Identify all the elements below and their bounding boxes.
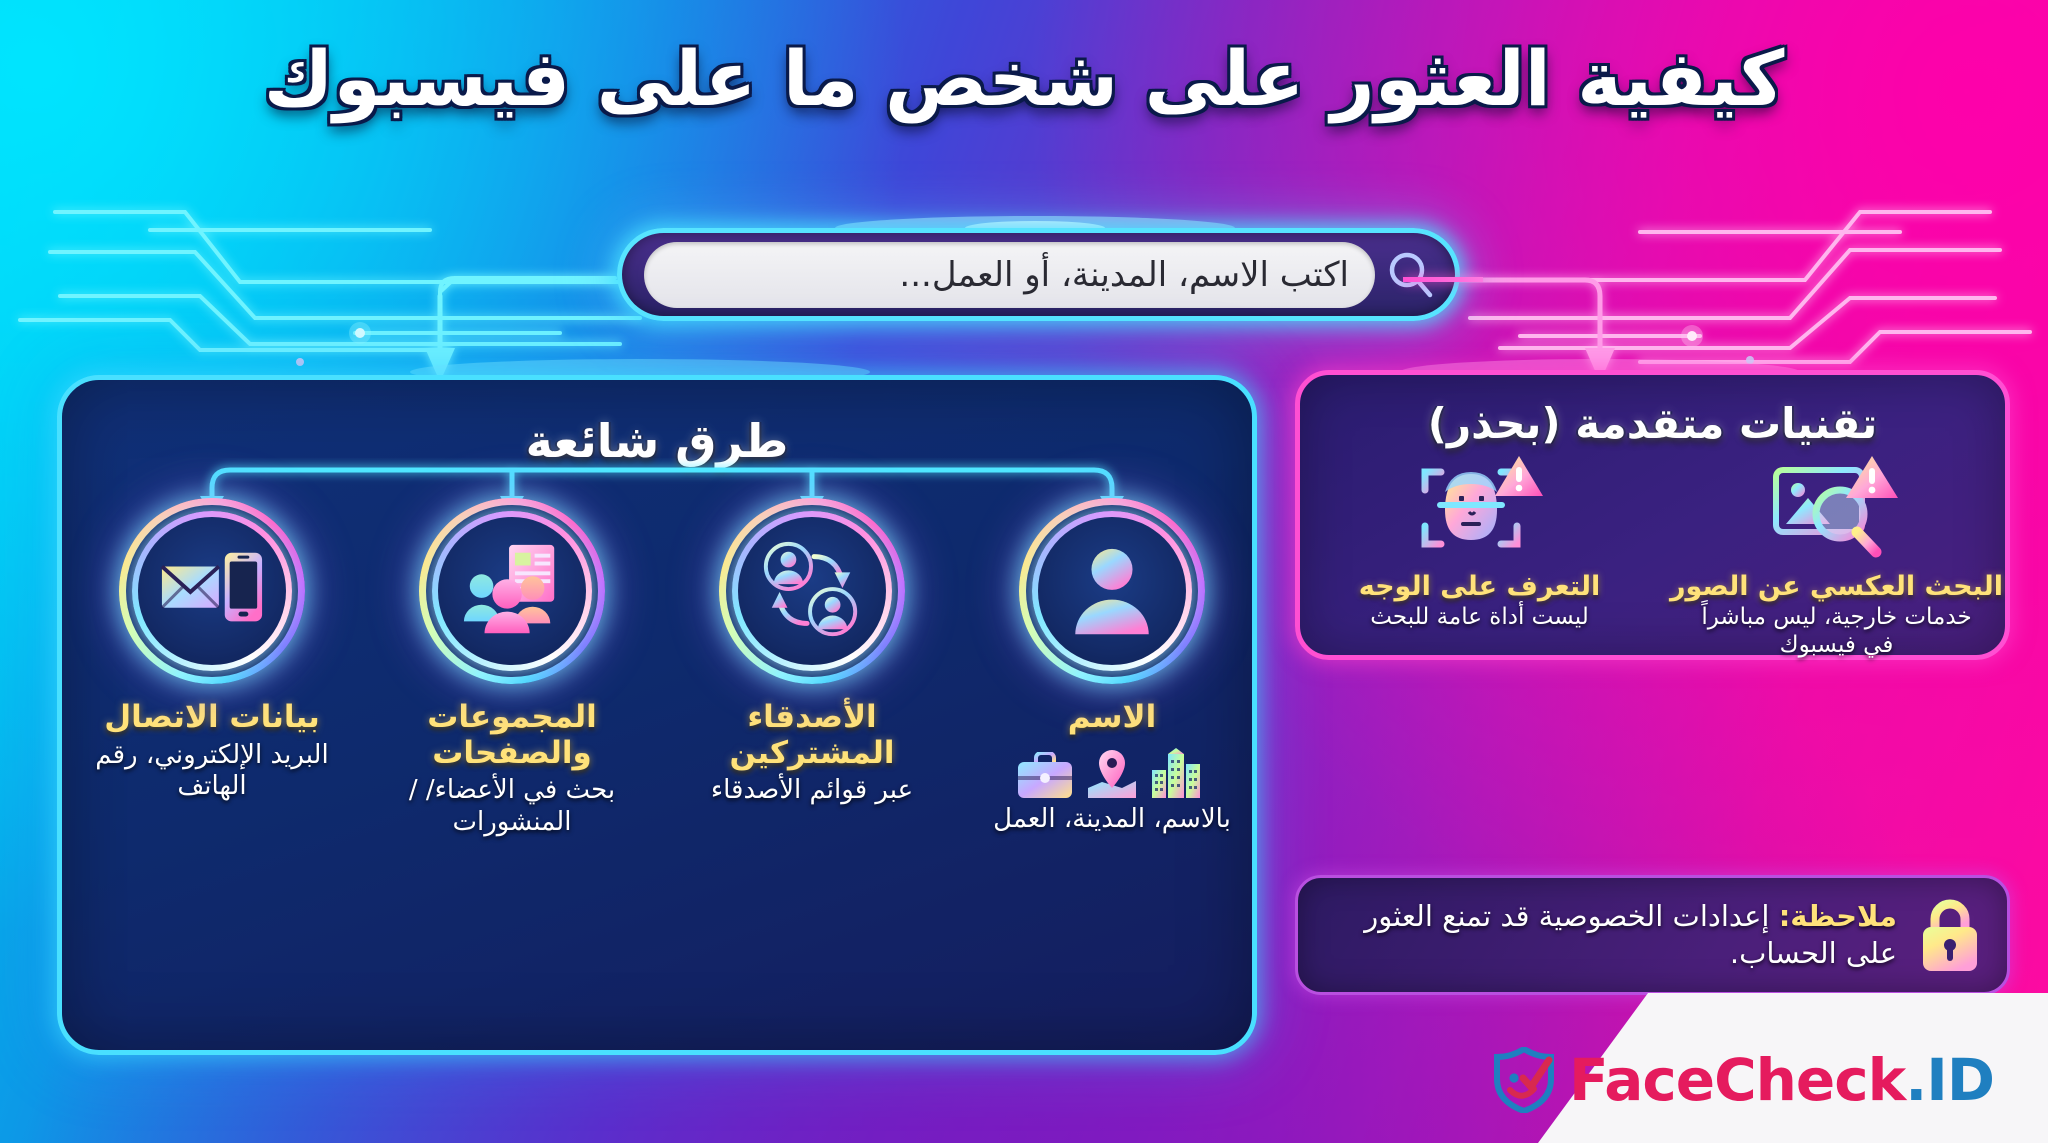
method-subtitle: بالاسم، المدينة، العمل xyxy=(993,804,1231,836)
method-title: الأصدقاء المشتركين xyxy=(662,700,962,771)
method-name[interactable]: الاسم xyxy=(962,498,1262,839)
city-buildings-icon xyxy=(1150,748,1208,800)
brand-name: FaceCheck.ID xyxy=(1569,1051,1994,1109)
advanced-panel-heading: تقنيات متقدمة (بحذر) xyxy=(1300,399,2005,448)
methods-row: الاسم xyxy=(62,498,1262,839)
search-input[interactable]: اكتب الاسم، المدينة، أو العمل... xyxy=(644,242,1375,308)
user-avatar-icon xyxy=(1058,537,1166,645)
method-subtitle: عبر قوائم الأصدقاء xyxy=(711,775,913,807)
method-sub-icons xyxy=(1016,742,1208,800)
lock-icon xyxy=(1915,895,1985,975)
advanced-item-reverse-image-search[interactable]: البحث العكسي عن الصور خدمات خارجية، ليس … xyxy=(1658,449,2015,659)
page-title-text: كيفية العثور على شخص ما على فيسبوك xyxy=(264,34,1785,124)
shield-smiley-check-icon xyxy=(1493,1047,1555,1113)
common-methods-panel: طرق شائعة xyxy=(57,375,1257,1055)
method-title: المجموعات والصفحات xyxy=(362,700,662,771)
method-subtitle: بحث في الأعضاء/ /المنشورات xyxy=(387,775,637,838)
method-title: بيانات الاتصال xyxy=(104,700,320,736)
advanced-item-face-recognition[interactable]: التعرف على الوجه ليست أداة عامة للبحث xyxy=(1301,449,1658,659)
brand-name-secondary: .ID xyxy=(1905,1046,1994,1114)
face-scan-warning-icon xyxy=(1412,449,1548,567)
method-subtitle: البريد الإلكتروني، رقم الهاتف xyxy=(87,740,337,803)
two-users-sync-icon xyxy=(758,537,866,645)
privacy-note: ملاحظة: إعدادات الخصوصية قد تمنع العثور … xyxy=(1295,875,2010,995)
advanced-item-subtitle: ليست أداة عامة للبحث xyxy=(1370,604,1588,632)
advanced-item-title: البحث العكسي عن الصور xyxy=(1670,571,2003,602)
method-title: الاسم xyxy=(1068,700,1157,736)
search-bar[interactable]: اكتب الاسم، المدينة، أو العمل... xyxy=(617,228,1460,321)
method-mutual-friends[interactable]: الأصدقاء المشتركين عبر قوائم الأصدقاء xyxy=(662,498,962,839)
advanced-items-row: البحث العكسي عن الصور خدمات خارجية، ليس … xyxy=(1300,449,2015,659)
method-ring xyxy=(1019,498,1205,684)
search-placeholder: اكتب الاسم، المدينة، أو العمل... xyxy=(899,255,1349,295)
method-ring xyxy=(719,498,905,684)
privacy-note-label: ملاحظة: xyxy=(1779,899,1897,933)
advanced-panel: تقنيات متقدمة (بحذر) xyxy=(1295,370,2010,660)
briefcase-icon xyxy=(1016,752,1074,800)
group-page-icon xyxy=(458,537,566,645)
method-ring xyxy=(119,498,305,684)
location-pin-map-icon xyxy=(1086,748,1138,800)
glow-dots xyxy=(296,322,1754,366)
advanced-item-title: التعرف على الوجه xyxy=(1359,571,1601,602)
brand-logo[interactable]: FaceCheck.ID xyxy=(1493,1047,1994,1113)
search-icon[interactable] xyxy=(1383,247,1439,303)
image-search-warning-icon xyxy=(1769,449,1905,567)
page-title: كيفية العثور على شخص ما على فيسبوك xyxy=(0,34,2048,124)
method-contact-info[interactable]: بيانات الاتصال البريد الإلكتروني، رقم ال… xyxy=(62,498,362,839)
privacy-note-text: ملاحظة: إعدادات الخصوصية قد تمنع العثور … xyxy=(1326,898,1897,972)
method-ring xyxy=(419,498,605,684)
email-phone-icon xyxy=(158,537,266,645)
search-bar-glow xyxy=(1403,277,1483,282)
advanced-item-subtitle: خدمات خارجية، ليس مباشراً في فيسبوك xyxy=(1687,604,1987,659)
brand-name-primary: FaceCheck xyxy=(1569,1046,1905,1114)
method-groups-pages[interactable]: المجموعات والصفحات بحث في الأعضاء/ /المن… xyxy=(362,498,662,839)
